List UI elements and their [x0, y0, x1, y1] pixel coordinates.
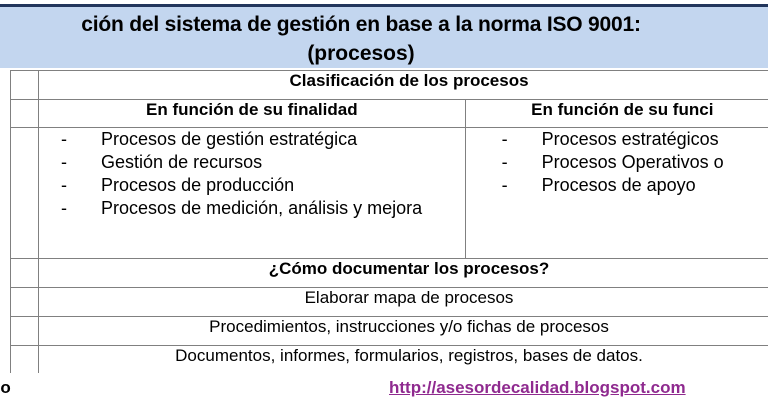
dash-bullet-icon: -: [502, 151, 516, 174]
classification-header: Clasificación de los procesos: [39, 71, 768, 100]
list-item: - Procesos de apoyo: [466, 174, 768, 197]
table-row-documentation-2: Procedimientos, instrucciones y/o fichas…: [11, 317, 768, 346]
row-gutter-cell: [11, 259, 39, 288]
documentation-row-documentos: Documentos, informes, formularios, regis…: [39, 346, 768, 375]
row-gutter-cell: [11, 288, 39, 317]
table-row-process-lists: - Procesos de gestión estratégica - Gest…: [11, 128, 768, 259]
list-item-label: Gestión de recursos: [101, 151, 262, 174]
table-row-classification-header: Clasificación de los procesos: [11, 71, 768, 100]
slide-footer: do http://asesordecalidad.blogspot.com: [0, 373, 768, 403]
slide-title-band: ción del sistema de gestión en base a la…: [0, 4, 768, 68]
finalidad-list: - Procesos de gestión estratégica - Gest…: [39, 128, 465, 220]
funcion-list: - Procesos estratégicos - Procesos Opera…: [466, 128, 768, 197]
funcion-list-cell: - Procesos estratégicos - Procesos Opera…: [465, 128, 768, 259]
slide-title-line-1: ción del sistema de gestión en base a la…: [0, 10, 768, 40]
process-classification-table-wrap: Clasificación de los procesos En función…: [10, 70, 768, 373]
row-gutter-cell: [11, 317, 39, 346]
dash-bullet-icon: -: [502, 174, 516, 197]
list-item-label: Procesos de apoyo: [542, 174, 696, 197]
table-row-documentation-header: ¿Cómo documentar los procesos?: [11, 259, 768, 288]
table-row-column-headers: En función de su finalidad En función de…: [11, 100, 768, 128]
list-item: - Procesos Operativos o: [466, 151, 768, 174]
list-item: - Gestión de recursos: [39, 151, 465, 174]
row-gutter-cell: [11, 71, 39, 100]
list-item-label: Procesos Operativos o: [542, 151, 724, 174]
footer-url-link[interactable]: http://asesordecalidad.blogspot.com: [389, 378, 686, 398]
list-item: - Procesos de producción: [39, 174, 465, 197]
list-item: - Procesos de gestión estratégica: [39, 128, 465, 151]
row-gutter-cell: [11, 346, 39, 375]
list-item-label: Procesos de medición, análisis y mejora: [101, 197, 422, 220]
dash-bullet-icon: -: [502, 128, 516, 151]
dash-bullet-icon: -: [61, 197, 75, 220]
documentation-header: ¿Cómo documentar los procesos?: [39, 259, 768, 288]
dash-bullet-icon: -: [61, 151, 75, 174]
row-gutter-cell: [11, 128, 39, 259]
finalidad-list-cell: - Procesos de gestión estratégica - Gest…: [39, 128, 466, 259]
row-gutter-cell: [11, 100, 39, 128]
column-header-funcion: En función de su funci: [465, 100, 768, 128]
list-item-label: Procesos estratégicos: [542, 128, 719, 151]
dash-bullet-icon: -: [61, 174, 75, 197]
documentation-row-mapa: Elaborar mapa de procesos: [39, 288, 768, 317]
documentation-row-procedimientos: Procedimientos, instrucciones y/o fichas…: [39, 317, 768, 346]
list-item: - Procesos de medición, análisis y mejor…: [39, 197, 465, 220]
dash-bullet-icon: -: [61, 128, 75, 151]
list-item: - Procesos estratégicos: [466, 128, 768, 151]
table-row-documentation-3: Documentos, informes, formularios, regis…: [11, 346, 768, 375]
footer-left-text: do: [0, 378, 11, 398]
list-item-label: Procesos de producción: [101, 174, 294, 197]
table-row-documentation-1: Elaborar mapa de procesos: [11, 288, 768, 317]
list-item-label: Procesos de gestión estratégica: [101, 128, 357, 151]
slide-title-line-2: (procesos): [0, 40, 768, 68]
column-header-finalidad: En función de su finalidad: [39, 100, 466, 128]
process-classification-table: Clasificación de los procesos En función…: [10, 70, 768, 375]
